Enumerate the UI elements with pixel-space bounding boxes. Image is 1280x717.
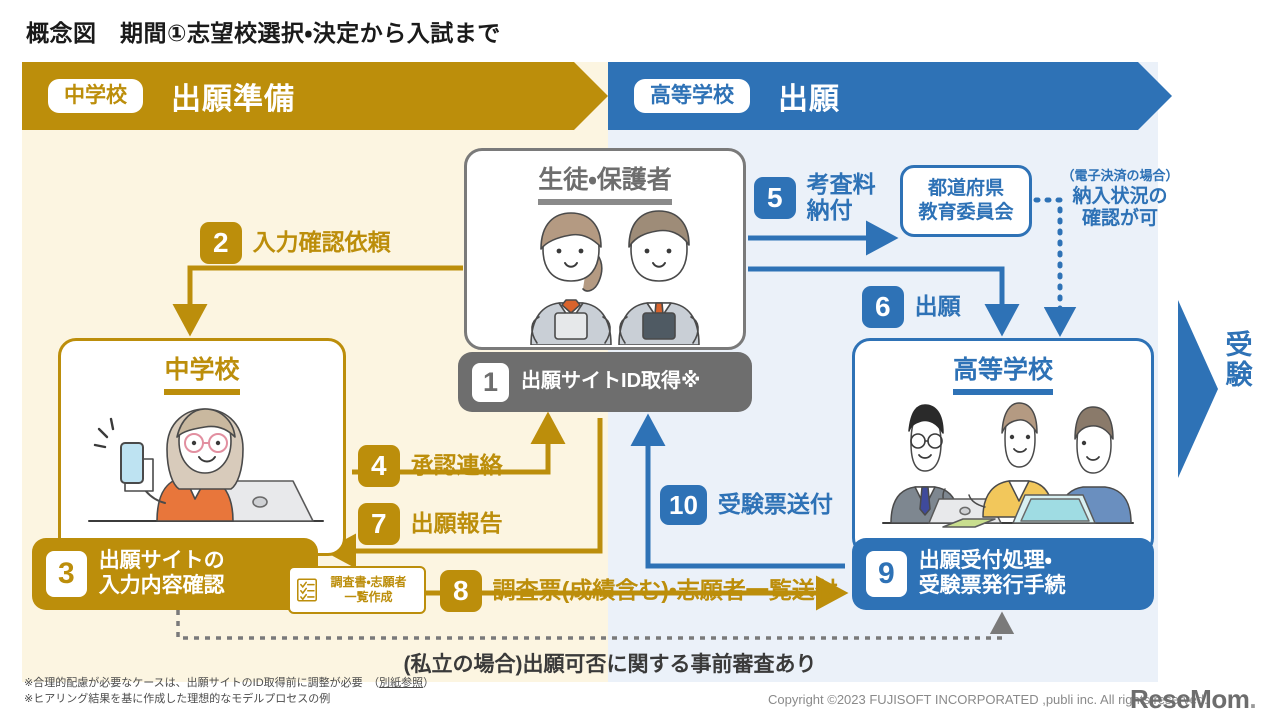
step-10-chip[interactable]: 10 受験票送付 (660, 485, 833, 525)
footnote-1-text: ※合理的配慮が必要なケースは、出願サイトのID取得前に調整が必要 （ (24, 677, 379, 689)
entity-card-high-school: 高等学校 (852, 338, 1154, 556)
header-pill-junior-high: 中学校 (48, 79, 143, 112)
junior-high-title-row: 中学校 (61, 341, 343, 395)
junior-high-title: 中学校 (164, 350, 239, 395)
note-epayment-condition: （電子決済の場合） (1054, 168, 1186, 184)
step-8-label: 調査票(成績含む)・志願者一覧送付 (493, 578, 838, 604)
header-title-preparation: 出願準備 (171, 74, 295, 118)
entity-card-student-guardian: 生徒・保護者 (464, 148, 746, 350)
footnote-line-1: ※合理的配慮が必要なケースは、出願サイトのID取得前に調整が必要 （別紙参照） (24, 676, 434, 692)
prefecture-board-label: 都道府県 教育委員会 (918, 177, 1013, 225)
checklist-icon (297, 578, 317, 602)
step-10-label: 受験票送付 (718, 492, 833, 518)
note-epayment-text: 納入状況の 確認が可 (1054, 186, 1186, 232)
note-survey-document-label: 調査書・志願者 一覧作成 (317, 575, 424, 605)
step-6-chip[interactable]: 6 出願 (862, 286, 961, 328)
step-1-label: 出願サイトID取得※ (521, 370, 700, 394)
page-title: 概念図 期間①志望校選択・決定から入試まで (26, 14, 501, 48)
resemom-logo-text: ReseMom (1130, 684, 1249, 714)
high-school-title: 高等学校 (953, 350, 1053, 395)
exam-arrow-shape (1178, 300, 1218, 478)
step-2-chip[interactable]: 2 入力確認依頼 (200, 222, 391, 264)
footnote-1-close: ） (423, 677, 434, 689)
footnotes: ※合理的配慮が必要なケースは、出願サイトのID取得前に調整が必要 （別紙参照） … (24, 676, 434, 708)
step-2-label: 入力確認依頼 (253, 230, 391, 256)
step-9-card[interactable]: 9 出願受付処理・ 受験票発行手続 (852, 538, 1154, 610)
student-title-row: 生徒・保護者 (467, 151, 743, 205)
exam-label: 受験 (1222, 330, 1256, 390)
step-4-label: 承認連絡 (411, 453, 503, 479)
step-3-label: 出願サイトの 入力内容確認 (99, 549, 225, 599)
student-title: 生徒・保護者 (538, 160, 672, 205)
step-10-number: 10 (660, 485, 707, 525)
resemom-logo-suffix: . (1249, 684, 1256, 714)
step-1-number: 1 (472, 363, 509, 402)
students-illustration (467, 205, 749, 345)
step-5-chip[interactable]: 5 考査料 納付 (754, 172, 876, 224)
step-5-number: 5 (754, 177, 796, 219)
step-2-number: 2 (200, 222, 242, 264)
header-pill-high-school: 高等学校 (634, 79, 750, 112)
footnote-line-2: ※ヒアリング結果を基に作成した理想的なモデルプロセスの例 (24, 692, 434, 708)
step-7-label: 出願報告 (411, 511, 503, 537)
step-4-number: 4 (358, 445, 400, 487)
step-1-card[interactable]: 1 出願サイトID取得※ (458, 352, 752, 412)
step-5-label: 考査料 納付 (807, 172, 876, 224)
step-7-chip[interactable]: 7 出願報告 (358, 503, 503, 545)
entity-card-junior-high: 中学校 (58, 338, 346, 556)
header-title-application: 出願 (778, 74, 840, 118)
step-7-number: 7 (358, 503, 400, 545)
note-epayment: （電子決済の場合） 納入状況の 確認が可 (1054, 168, 1186, 231)
header-banner-junior-high: 中学校 出願準備 (22, 62, 608, 130)
header-banner-high-school: 高等学校 出願 (608, 62, 1172, 130)
step-6-number: 6 (862, 286, 904, 328)
teacher-illustration (61, 395, 349, 545)
entity-card-prefecture-board: 都道府県 教育委員会 (900, 165, 1032, 237)
step-3-number: 3 (46, 551, 87, 597)
step-3-card[interactable]: 3 出願サイトの 入力内容確認 (32, 538, 318, 610)
step-6-label: 出願 (915, 294, 961, 320)
step-9-number: 9 (866, 551, 907, 597)
footnote-1-link[interactable]: 別紙参照 (379, 677, 423, 689)
step-8-number: 8 (440, 570, 482, 612)
step-8-chip[interactable]: 8 調査票(成績含む)・志願者一覧送付 (440, 570, 838, 612)
high-school-title-row: 高等学校 (855, 341, 1151, 395)
step-4-chip[interactable]: 4 承認連絡 (358, 445, 503, 487)
resemom-logo: ReseMom. (1130, 684, 1256, 715)
high-school-staff-illustration (855, 395, 1157, 545)
note-survey-document: 調査書・志願者 一覧作成 (288, 566, 426, 614)
step-9-label: 出願受付処理・ 受験票発行手続 (919, 549, 1066, 599)
note-private-school-prescreening: (私立の場合)出願可否に関する事前審査あり (330, 648, 890, 678)
